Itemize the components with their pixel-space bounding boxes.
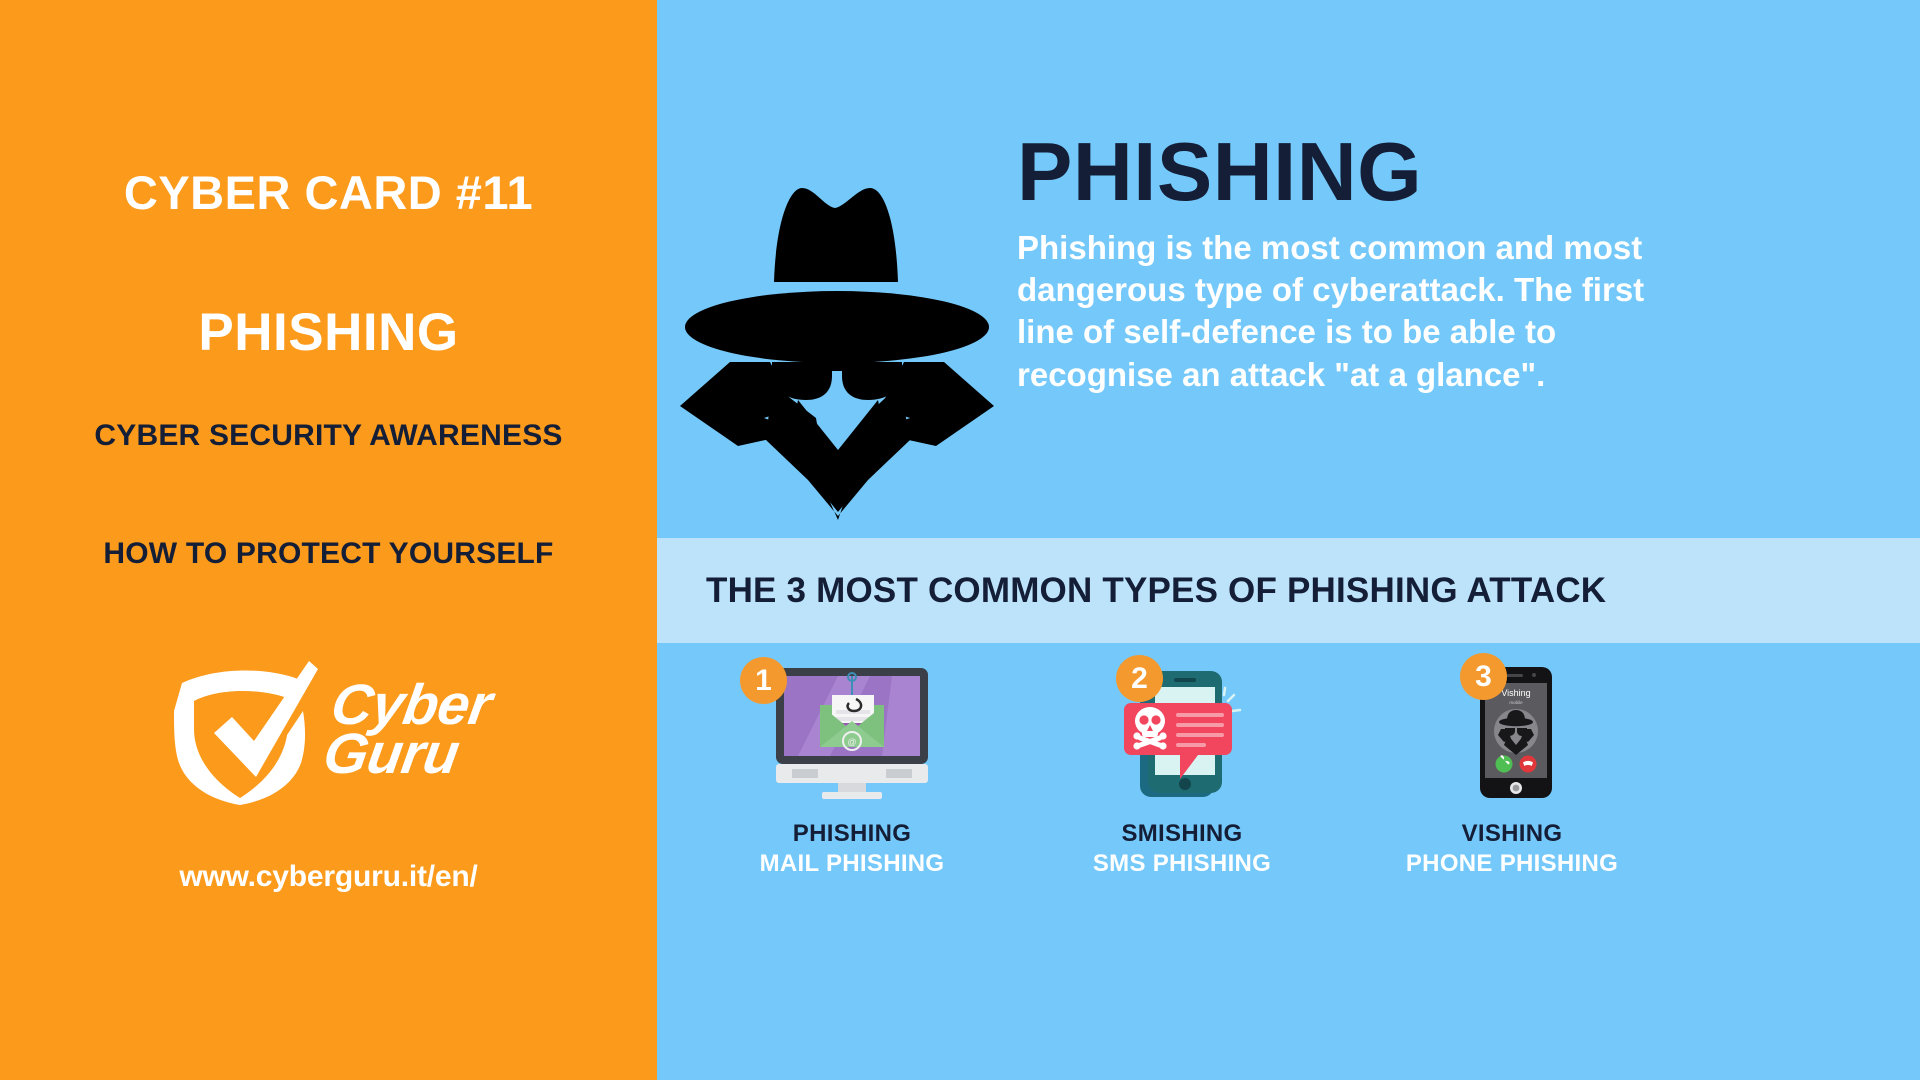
smartphone-incoming-call-spy-icon: 3 Vishing mobile: [1412, 665, 1612, 800]
section-banner: THE 3 MOST COMMON TYPES OF PHISHING ATTA…: [657, 538, 1920, 643]
type-badge-3: 3: [1460, 653, 1507, 700]
type-sublabel-vishing: PHONE PHISHING: [1406, 850, 1618, 878]
smartphone-sms-skull-icon: 2: [1082, 665, 1282, 800]
cyber-guru-wordmark: Cyber Guru: [320, 681, 495, 779]
type-badge-1: 1: [740, 657, 787, 704]
type-card-smishing[interactable]: 2: [1017, 665, 1347, 878]
section-banner-text: THE 3 MOST COMMON TYPES OF PHISHING ATTA…: [706, 571, 1606, 611]
brand-line-2: Guru: [320, 730, 487, 779]
cyber-card-number: CYBER CARD #11: [0, 168, 657, 217]
type-sublabel-phishing: MAIL PHISHING: [760, 850, 945, 878]
desktop-monitor-phishing-email-icon: 1: [752, 665, 952, 800]
type-label-smishing: SMISHING: [1121, 820, 1242, 848]
spy-incognito-icon: [672, 150, 1002, 520]
left-topic-title: PHISHING: [0, 305, 657, 361]
type-label-vishing: VISHING: [1462, 820, 1563, 848]
infographic-card: CYBER CARD #11 PHISHING CYBER SECURITY A…: [0, 0, 1920, 1080]
hero-section: PHISHING Phishing is the most common and…: [657, 130, 1920, 530]
website-url[interactable]: www.cyberguru.it/en/: [0, 860, 657, 894]
phishing-types-row: 1: [657, 665, 1920, 878]
type-card-vishing[interactable]: 3 Vishing mobile: [1347, 665, 1677, 878]
vishing-caller-sub: mobile: [1509, 700, 1523, 705]
type-badge-2: 2: [1116, 655, 1163, 702]
hero-text-block: PHISHING Phishing is the most common and…: [1017, 130, 1897, 396]
left-orange-panel: CYBER CARD #11 PHISHING CYBER SECURITY A…: [0, 0, 657, 1080]
type-label-phishing: PHISHING: [793, 820, 911, 848]
cyber-guru-logo: Cyber Guru: [0, 655, 657, 805]
vishing-caller-name: Vishing: [1501, 688, 1530, 698]
left-subtitle-protect: HOW TO PROTECT YOURSELF: [0, 535, 657, 573]
hero-description: Phishing is the most common and most dan…: [1017, 227, 1707, 396]
type-card-phishing[interactable]: 1: [687, 665, 1017, 878]
svg-text:@: @: [847, 737, 856, 747]
left-subtitle-awareness: CYBER SECURITY AWARENESS: [0, 417, 657, 455]
type-sublabel-smishing: SMS PHISHING: [1093, 850, 1271, 878]
hero-title: PHISHING: [1017, 130, 1897, 213]
shield-check-icon: [170, 655, 318, 805]
